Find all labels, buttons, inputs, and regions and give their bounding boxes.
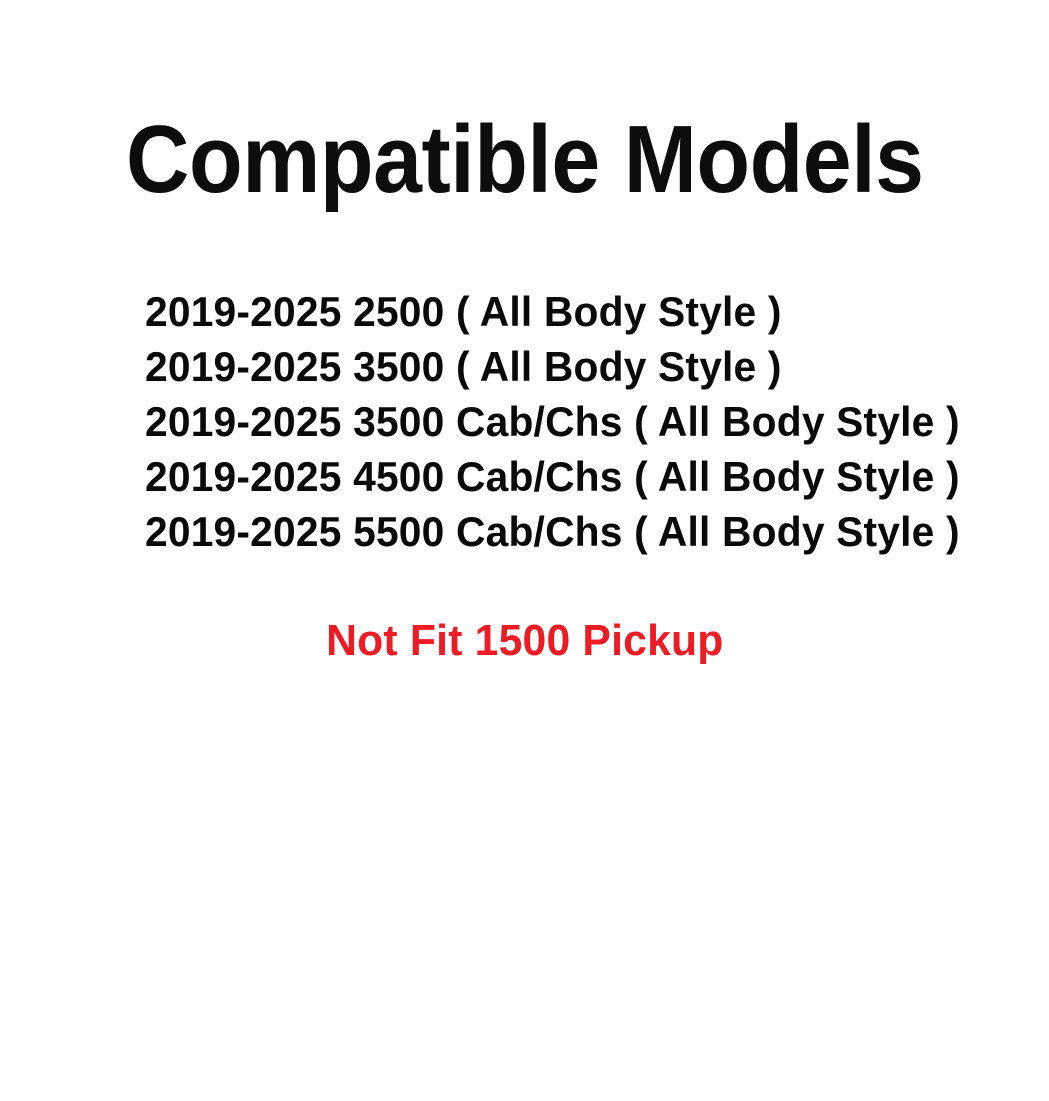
page-title-container: Compatible Models — [0, 112, 1049, 208]
fitment-warning-text: Not Fit 1500 Pickup — [326, 618, 723, 664]
list-item: 2019-2025 2500 ( All Body Style ) — [145, 284, 999, 339]
compatible-models-list: 2019-2025 2500 ( All Body Style ) 2019-2… — [145, 284, 1025, 559]
fitment-notice-container: Not Fit 1500 Pickup — [0, 618, 1049, 664]
page-title: Compatible Models — [126, 112, 923, 208]
list-item: 2019-2025 4500 Cab/Chs ( All Body Style … — [145, 449, 999, 504]
list-item: 2019-2025 5500 Cab/Chs ( All Body Style … — [145, 504, 999, 559]
list-item: 2019-2025 3500 Cab/Chs ( All Body Style … — [145, 394, 999, 449]
list-item: 2019-2025 3500 ( All Body Style ) — [145, 339, 999, 394]
compatibility-chart-page: Compatible Models 2019-2025 2500 ( All B… — [0, 0, 1049, 1101]
